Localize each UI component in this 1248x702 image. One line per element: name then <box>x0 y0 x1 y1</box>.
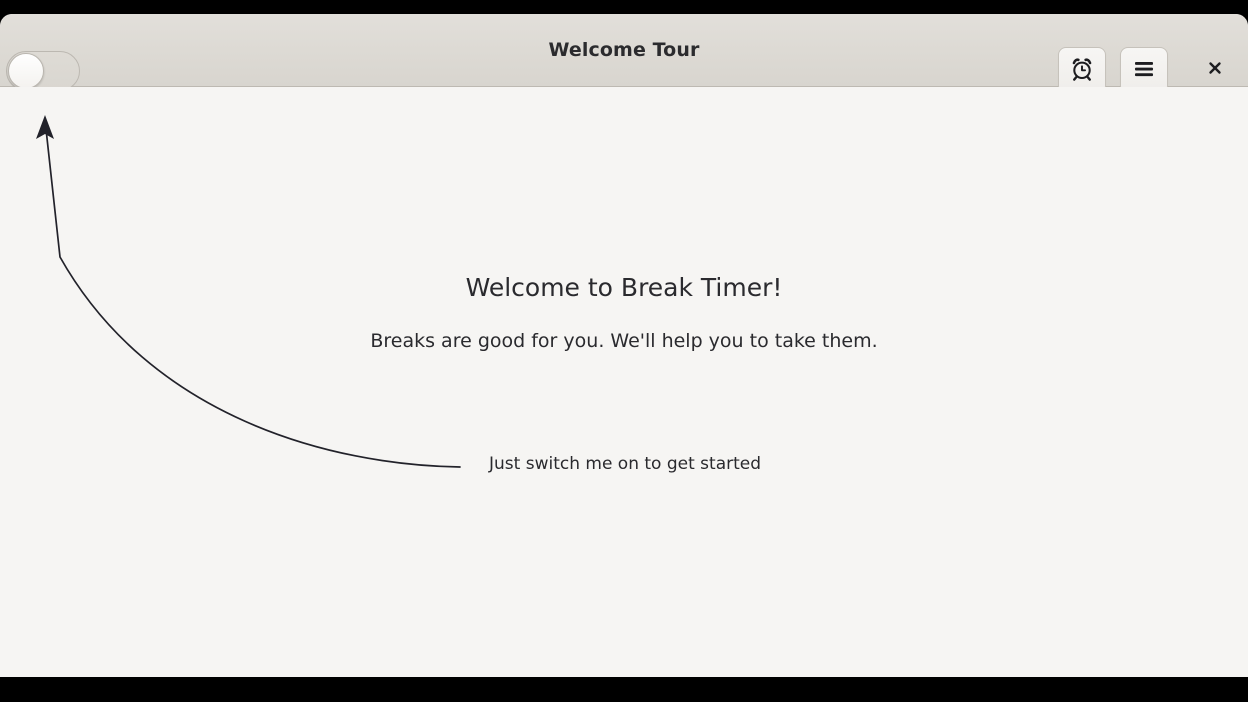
page-title: Welcome to Break Timer! <box>0 273 1248 302</box>
close-button[interactable] <box>1195 50 1235 90</box>
header-bar: Welcome Tour <box>0 14 1248 87</box>
page-subtitle: Breaks are good for you. We'll help you … <box>0 330 1248 352</box>
alarm-clock-icon <box>1069 56 1095 86</box>
main-content: Welcome to Break Timer! Breaks are good … <box>0 87 1248 677</box>
screen: Welcome Tour <box>0 0 1248 702</box>
app-window: Welcome Tour <box>0 14 1248 677</box>
arrow-annotation-label: Just switch me on to get started <box>489 454 761 474</box>
curved-arrow-pointing-to-toggle <box>0 87 1248 677</box>
close-icon <box>1205 58 1225 82</box>
hamburger-menu-icon <box>1132 59 1156 83</box>
